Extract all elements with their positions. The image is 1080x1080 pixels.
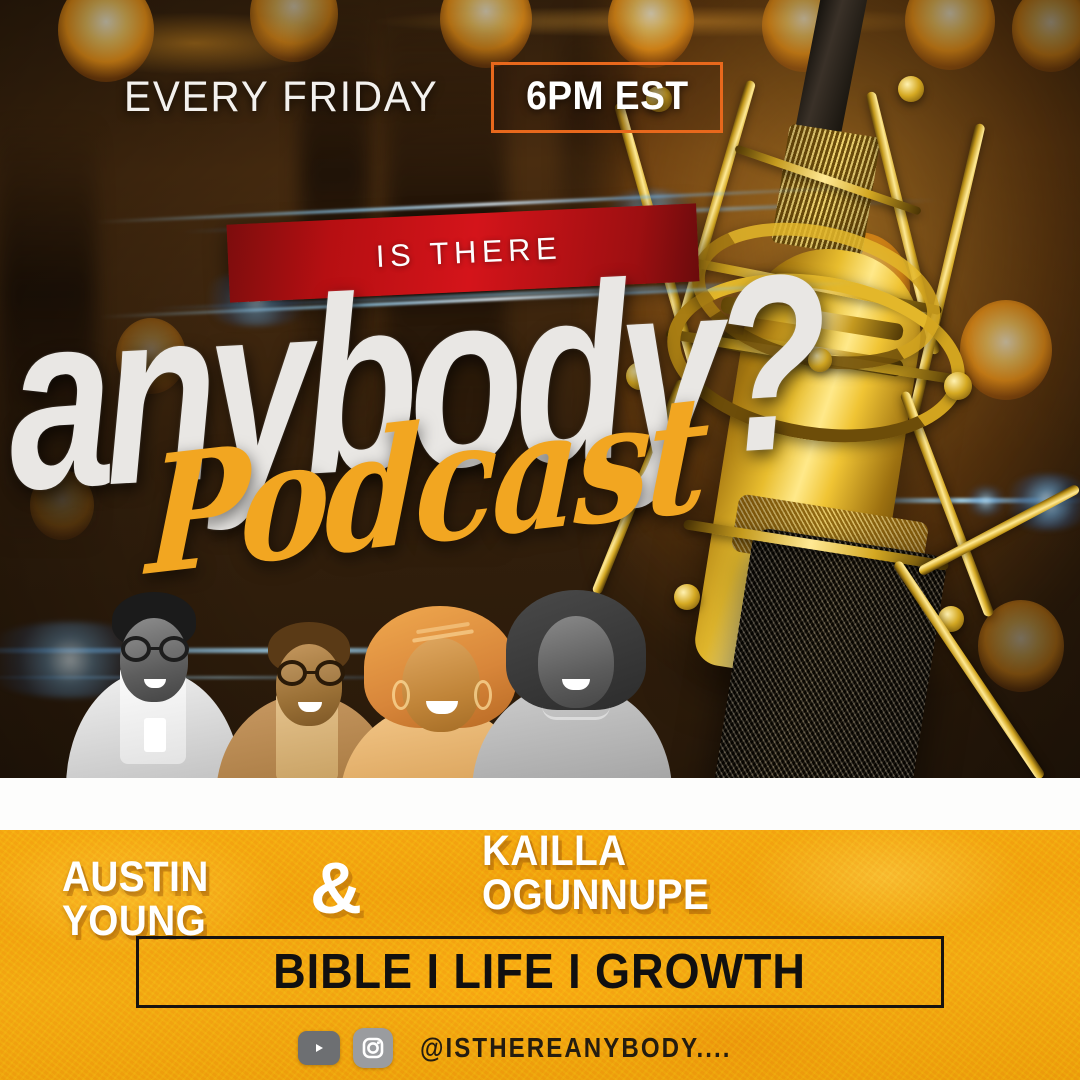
host-first-name: AUSTIN <box>62 856 209 900</box>
host-name-austin: AUSTIN YOUNG <box>62 856 209 944</box>
ampersand: & <box>310 848 362 930</box>
time-badge: 6PM EST <box>491 62 724 133</box>
frequency-label: EVERY FRIDAY <box>124 73 439 122</box>
host-last-name: OGUNNUPE <box>482 874 709 918</box>
social-handle[interactable]: @ISTHEREANYBODY.... <box>420 1032 732 1064</box>
social-row: @ISTHEREANYBODY.... <box>0 1028 1080 1068</box>
youtube-icon[interactable] <box>298 1031 340 1065</box>
tagline-label: BIBLE I LIFE I GROWTH <box>274 944 807 1000</box>
podcast-flyer: EVERY FRIDAY 6PM EST IS THERE anybody? P… <box>0 0 1080 1080</box>
host-first-name: KAILLA <box>482 830 709 874</box>
tagline-box: BIBLE I LIFE I GROWTH <box>136 936 944 1008</box>
time-label: 6PM EST <box>526 74 688 119</box>
instagram-icon[interactable] <box>353 1028 393 1068</box>
schedule-row: EVERY FRIDAY 6PM EST <box>124 62 723 133</box>
host-name-kailla: KAILLA OGUNNUPE <box>482 830 709 918</box>
torn-edge <box>0 778 1080 830</box>
